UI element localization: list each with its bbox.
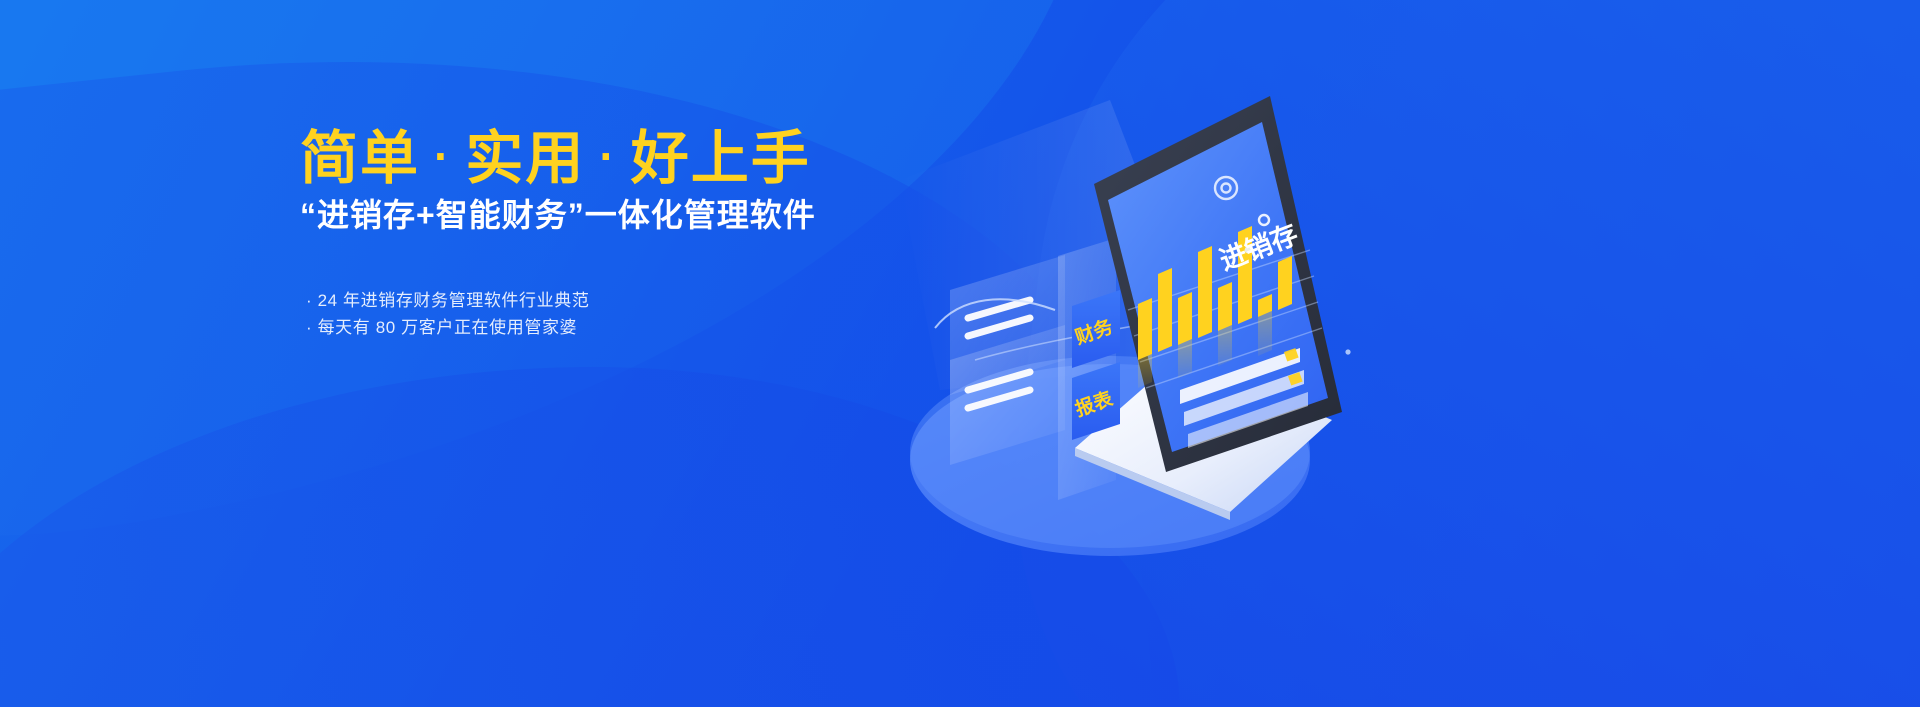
banner-subheadline: “进销存+智能财务”一体化管理软件 [300,195,920,235]
floating-panel-group [950,255,1065,465]
list-item: · 24 年进销存财务管理软件行业典范 [306,287,920,314]
list-item: · 每天有 80 万客户正在使用管家婆 [306,314,920,341]
headline-separator-2: · [585,130,630,182]
headline-part-3: 好上手 [631,126,811,191]
banner-headline: 简单·实用·好上手 [300,128,920,189]
headline-part-1: 简单 [300,126,420,191]
banner-copy: 简单·实用·好上手 “进销存+智能财务”一体化管理软件 · 24 年进销存财务管… [300,128,920,341]
hero-banner: 简单·实用·好上手 “进销存+智能财务”一体化管理软件 · 24 年进销存财务管… [0,0,1920,707]
banner-bullet-list: · 24 年进销存财务管理软件行业典范 · 每天有 80 万客户正在使用管家婆 [306,287,920,341]
sparkle-dot [1345,349,1350,354]
headline-part-2: 实用 [465,126,585,191]
headline-separator-1: · [420,130,465,182]
laptop-illustration: 进销存 财务 报表 [880,60,1360,620]
